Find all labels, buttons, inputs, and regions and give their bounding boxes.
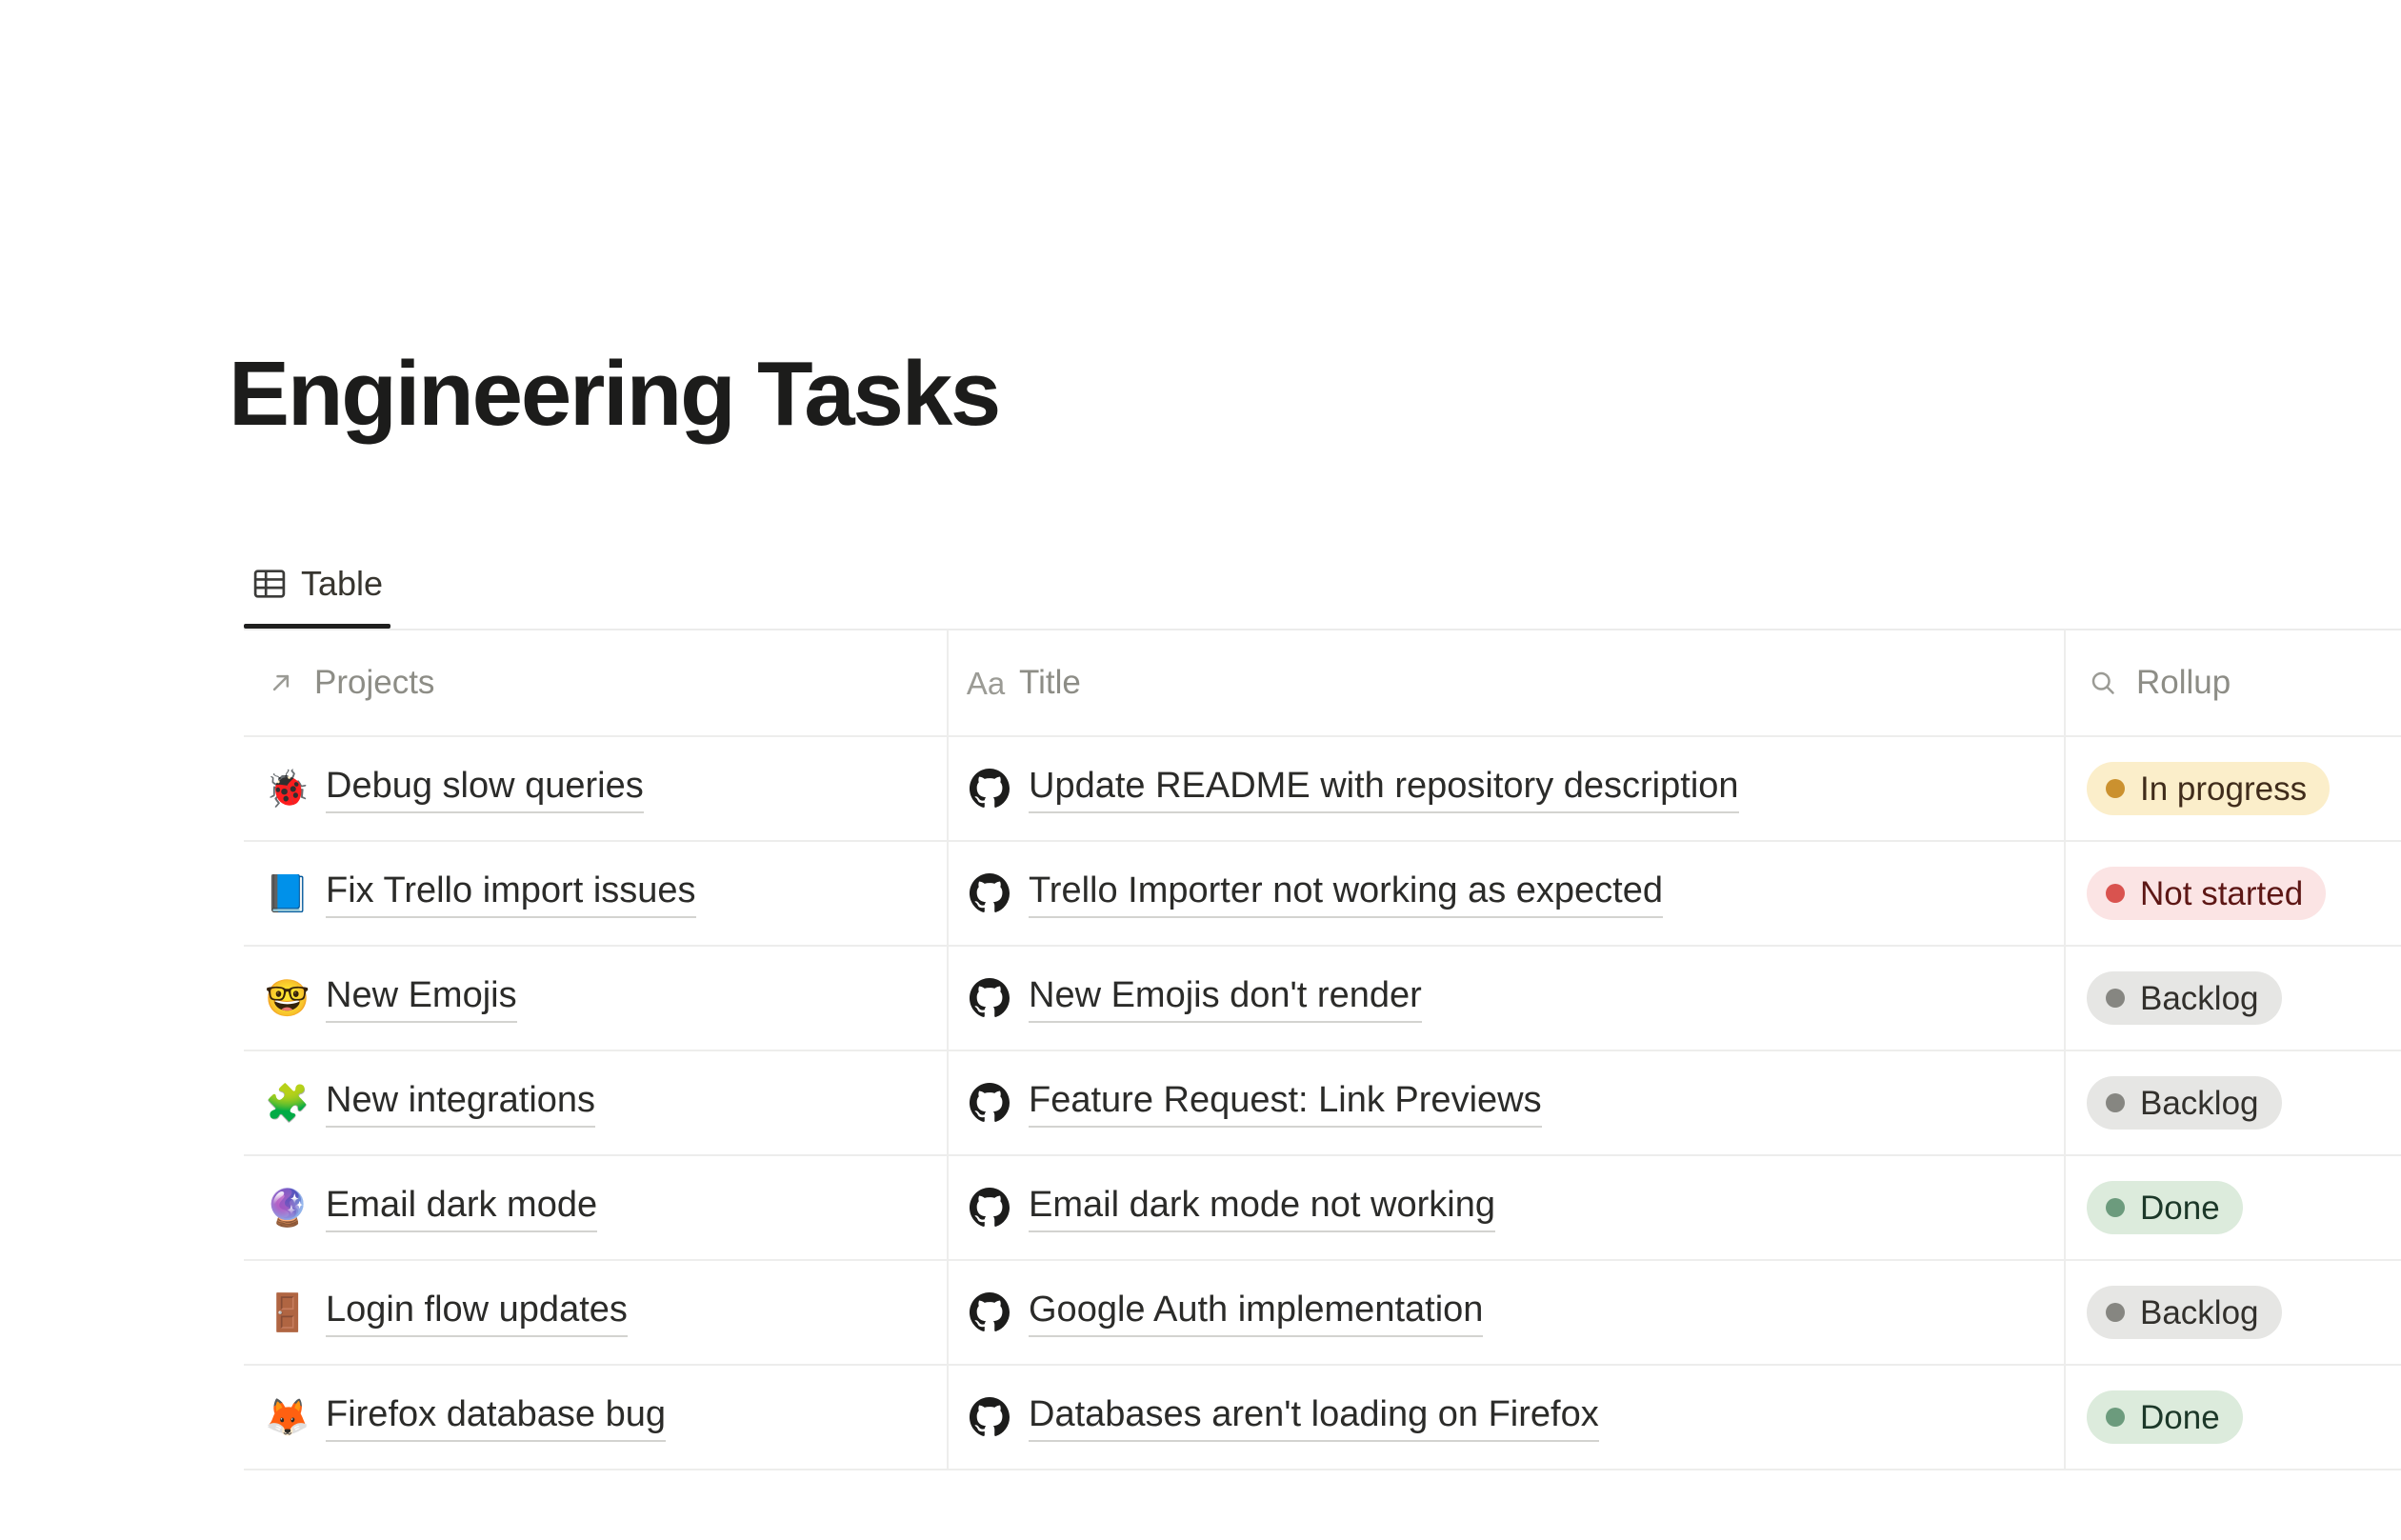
cell-projects[interactable]: 🔮Email dark mode [244, 1156, 949, 1259]
issue-link[interactable]: Update README with repository descriptio… [1029, 764, 1739, 812]
cell-projects[interactable]: 🦊Firefox database bug [244, 1366, 949, 1469]
table-view-icon [251, 566, 288, 602]
crystal-ball-emoji: 🔮 [265, 1190, 307, 1226]
status-badge-label: Done [2140, 1191, 2220, 1225]
status-badge-label: Not started [2140, 877, 2303, 910]
project-link[interactable]: Firefox database bug [326, 1392, 666, 1441]
table-row[interactable]: 🚪Login flow updatesGoogle Auth implement… [244, 1261, 2401, 1366]
door-emoji: 🚪 [265, 1294, 307, 1330]
cell-title[interactable]: Databases aren't loading on Firefox [949, 1366, 2066, 1469]
status-dot-icon [2106, 1408, 2125, 1427]
column-header-title-label: Title [1019, 664, 1081, 702]
status-dot-icon [2106, 884, 2125, 903]
cell-projects[interactable]: 🤓New Emojis [244, 947, 949, 1050]
cell-rollup[interactable]: Done [2066, 1366, 2401, 1469]
status-badge-label: Backlog [2140, 982, 2259, 1015]
database-table: Projects Aa Title Rollup 🐞Debug slow [244, 629, 2401, 1470]
cell-projects[interactable]: 🐞Debug slow queries [244, 737, 949, 840]
status-badge: In progress [2087, 762, 2330, 815]
table-row[interactable]: 🔮Email dark modeEmail dark mode not work… [244, 1156, 2401, 1261]
status-badge-label: Done [2140, 1401, 2220, 1434]
nerd-face-emoji: 🤓 [265, 980, 307, 1016]
github-icon [970, 1083, 1010, 1123]
cell-projects[interactable]: 🧩New integrations [244, 1051, 949, 1154]
project-link[interactable]: Login flow updates [326, 1288, 628, 1336]
table-row[interactable]: 📘Fix Trello import issuesTrello Importer… [244, 842, 2401, 947]
project-link[interactable]: New integrations [326, 1078, 595, 1127]
status-badge: Backlog [2087, 971, 2282, 1025]
cell-title[interactable]: Email dark mode not working [949, 1156, 2066, 1259]
cell-projects[interactable]: 🚪Login flow updates [244, 1261, 949, 1364]
status-badge: Not started [2087, 867, 2326, 920]
project-link[interactable]: Debug slow queries [326, 764, 644, 812]
cell-rollup[interactable]: Backlog [2066, 1261, 2401, 1364]
puzzle-piece-emoji: 🧩 [265, 1085, 307, 1121]
table-row[interactable]: 🤓New EmojisNew Emojis don't renderBacklo… [244, 947, 2401, 1051]
tab-table[interactable]: Table [244, 566, 390, 629]
column-header-title[interactable]: Aa Title [949, 630, 2066, 735]
cell-title[interactable]: Update README with repository descriptio… [949, 737, 2066, 840]
table-row[interactable]: 🧩New integrationsFeature Request: Link P… [244, 1051, 2401, 1156]
column-header-rollup[interactable]: Rollup [2066, 630, 2401, 735]
table-row[interactable]: 🦊Firefox database bugDatabases aren't lo… [244, 1366, 2401, 1470]
column-header-projects-label: Projects [314, 664, 434, 702]
issue-link[interactable]: New Emojis don't render [1029, 973, 1422, 1022]
status-badge: Backlog [2087, 1076, 2282, 1130]
status-dot-icon [2106, 1303, 2125, 1322]
status-dot-icon [2106, 989, 2125, 1008]
status-dot-icon [2106, 779, 2125, 798]
cell-rollup[interactable]: Done [2066, 1156, 2401, 1259]
fox-emoji: 🦊 [265, 1399, 307, 1435]
github-icon [970, 1397, 1010, 1437]
page-title: Engineering Tasks [229, 343, 999, 446]
aa-text-icon: Aa [970, 667, 1002, 699]
tab-table-label: Table [301, 567, 383, 601]
ladybug-emoji: 🐞 [265, 770, 307, 807]
github-icon [970, 1188, 1010, 1228]
status-badge: Backlog [2087, 1286, 2282, 1339]
cell-rollup[interactable]: Backlog [2066, 947, 2401, 1050]
status-badge-label: Backlog [2140, 1296, 2259, 1330]
cell-title[interactable]: New Emojis don't render [949, 947, 2066, 1050]
issue-link[interactable]: Trello Importer not working as expected [1029, 869, 1663, 917]
magnifier-icon [2087, 667, 2119, 699]
github-icon [970, 769, 1010, 809]
table-body: 🐞Debug slow queriesUpdate README with re… [244, 737, 2401, 1470]
cell-rollup[interactable]: In progress [2066, 737, 2401, 840]
github-icon [970, 978, 1010, 1018]
issue-link[interactable]: Databases aren't loading on Firefox [1029, 1392, 1599, 1441]
status-badge: Done [2087, 1181, 2243, 1234]
issue-link[interactable]: Feature Request: Link Previews [1029, 1078, 1542, 1127]
status-badge: Done [2087, 1390, 2243, 1444]
github-icon [970, 1292, 1010, 1332]
cell-title[interactable]: Trello Importer not working as expected [949, 842, 2066, 945]
view-tab-bar: Table [244, 522, 390, 629]
database-page: Engineering Tasks Table [0, 0, 2401, 1540]
blue-book-emoji: 📘 [265, 875, 307, 911]
table-header-row: Projects Aa Title Rollup [244, 630, 2401, 737]
project-link[interactable]: New Emojis [326, 973, 517, 1022]
issue-link[interactable]: Email dark mode not working [1029, 1183, 1495, 1231]
github-icon [970, 873, 1010, 913]
project-link[interactable]: Fix Trello import issues [326, 869, 696, 917]
status-badge-label: In progress [2140, 772, 2307, 806]
cell-rollup[interactable]: Backlog [2066, 1051, 2401, 1154]
cell-title[interactable]: Feature Request: Link Previews [949, 1051, 2066, 1154]
cell-projects[interactable]: 📘Fix Trello import issues [244, 842, 949, 945]
aa-text-icon-glyph: Aa [967, 668, 1005, 699]
cell-title[interactable]: Google Auth implementation [949, 1261, 2066, 1364]
status-dot-icon [2106, 1093, 2125, 1112]
project-link[interactable]: Email dark mode [326, 1183, 597, 1231]
status-badge-label: Backlog [2140, 1087, 2259, 1120]
column-header-projects[interactable]: Projects [244, 630, 949, 735]
status-dot-icon [2106, 1198, 2125, 1217]
column-header-rollup-label: Rollup [2136, 664, 2231, 702]
cell-rollup[interactable]: Not started [2066, 842, 2401, 945]
issue-link[interactable]: Google Auth implementation [1029, 1288, 1483, 1336]
relation-arrow-icon [265, 667, 297, 699]
table-row[interactable]: 🐞Debug slow queriesUpdate README with re… [244, 737, 2401, 842]
